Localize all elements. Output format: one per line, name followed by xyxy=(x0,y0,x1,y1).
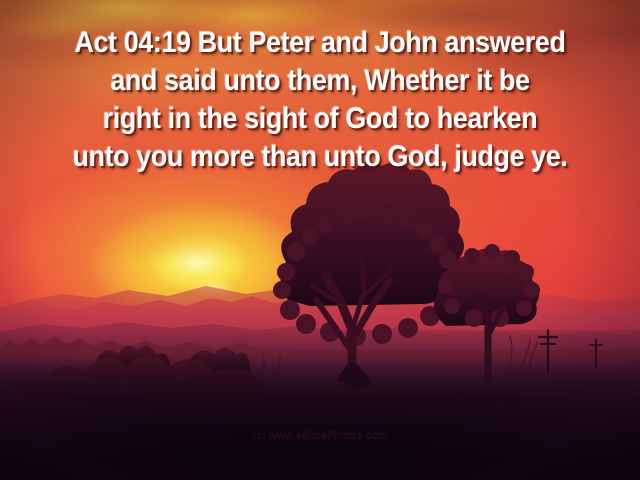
copyright-watermark: (c) www.eBiblePhotos.com xyxy=(19,429,621,442)
verse-line-4: unto you more than unto God, judge ye. xyxy=(46,138,594,176)
verse-line-3: right in the sight of God to hearken xyxy=(46,100,594,138)
verse-photo-canvas: Act 04:19 But Peter and John answered an… xyxy=(0,0,640,480)
verse-text-block: Act 04:19 But Peter and John answered an… xyxy=(0,24,640,176)
verse-line-1: Act 04:19 But Peter and John answered xyxy=(46,24,594,62)
verse-line-2: and said unto them, Whether it be xyxy=(46,62,594,100)
